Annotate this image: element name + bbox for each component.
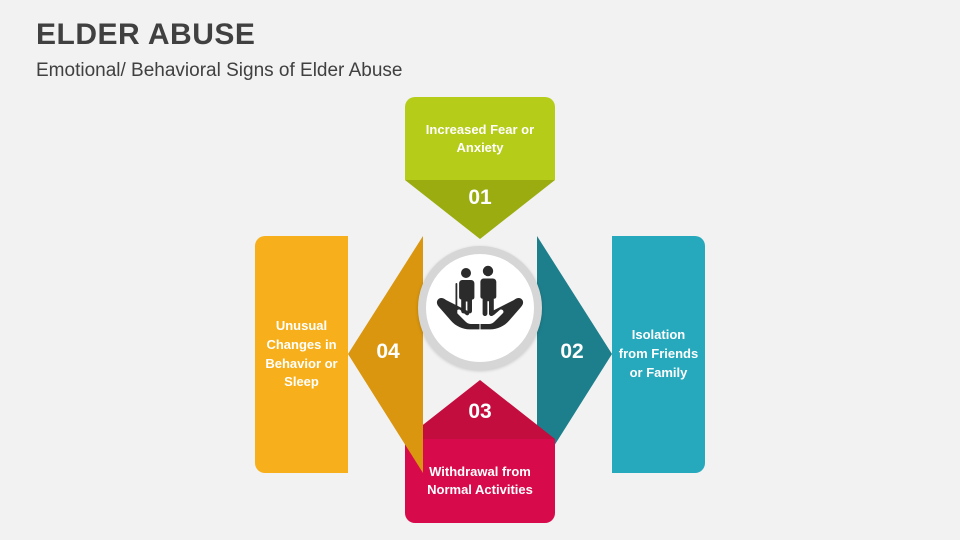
slide: ELDER ABUSE Emotional/ Behavioral Signs … xyxy=(0,0,960,540)
petal-01[interactable]: Increased Fear or Anxiety 01 xyxy=(405,97,555,239)
page-subtitle: Emotional/ Behavioral Signs of Elder Abu… xyxy=(36,60,403,82)
petal-03-number: 03 xyxy=(405,400,555,424)
center-circle xyxy=(418,246,542,370)
petal-01-number: 01 xyxy=(405,186,555,210)
petal-04-label: Unusual Changes in Behavior or Sleep xyxy=(255,236,348,473)
petal-02[interactable]: 02 Isolation from Friends or Family xyxy=(537,236,705,473)
petal-02-number: 02 xyxy=(537,340,607,364)
petal-diagram: Increased Fear or Anxiety 01 02 Isolatio… xyxy=(0,88,960,533)
petal-03[interactable]: 03 Withdrawal from Normal Activities xyxy=(405,380,555,523)
page-title: ELDER ABUSE xyxy=(36,18,255,52)
petal-04[interactable]: 04 Unusual Changes in Behavior or Sleep xyxy=(255,236,423,473)
petal-01-label: Increased Fear or Anxiety xyxy=(405,97,555,180)
petal-02-label: Isolation from Friends or Family xyxy=(612,236,705,473)
elderly-couple-in-hands-icon xyxy=(432,262,528,354)
petal-04-number: 04 xyxy=(353,340,423,364)
petal-03-label: Withdrawal from Normal Activities xyxy=(405,439,555,523)
